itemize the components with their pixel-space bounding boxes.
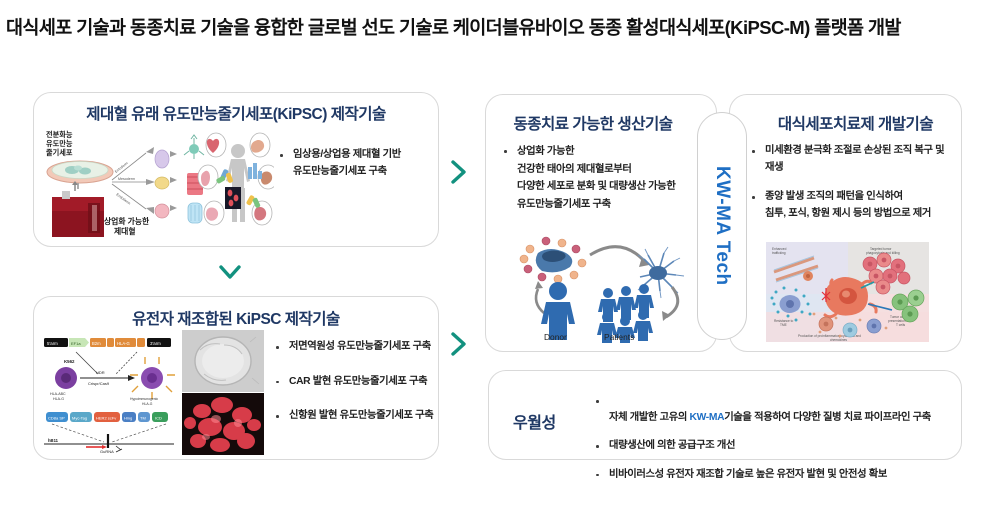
- svg-text:전분화능: 전분화능: [46, 130, 73, 139]
- panel-kipsc-production-bullets: 임상용/상업용 제대혈 기반 유도만능줄기세포 구축: [278, 147, 438, 186]
- chevron-down-icon: [216, 261, 244, 288]
- bullet-item: CAR 발현 유도만능줄기세포 구축: [274, 374, 440, 391]
- svg-text:Donor: Donor: [544, 332, 567, 342]
- panel-macrophage-therapy: 대식세포치료제 개발기술 미세환경 분극화 조절로 손상된 조직 복구 및 재생…: [729, 94, 962, 352]
- svg-text:HER2 scFv: HER2 scFv: [96, 416, 116, 421]
- kwma-highlight: KW-MA: [690, 412, 725, 423]
- svg-text:줄기세포: 줄기세포: [46, 148, 73, 157]
- panel-allogeneic-production: 동종치료 가능한 생산기술 상업화 가능한 건강한 태아의 제대혈로부터 다양한…: [485, 94, 717, 352]
- bullet-item: 대량생산에 의한 공급구조 개선: [594, 438, 974, 455]
- svg-text:GuRNA: GuRNA: [100, 449, 114, 454]
- svg-text:Ectoderm: Ectoderm: [114, 161, 129, 174]
- superiority-bullet-1-post: 기술을 적용하여 다양한 질병 치료 파이프라인 구축: [724, 412, 931, 423]
- panel-kipsc-production: 제대혈 유래 유도만능줄기세포(KiPSC) 제작기술 전분화능 유도만능 줄기…: [33, 92, 439, 247]
- chevron-right-icon-bottom: [448, 330, 470, 363]
- slide-root: 대식세포 기술과 동종치료 기술을 융합한 글로벌 선도 기술로 케이더블유바이…: [0, 0, 987, 517]
- svg-text:Mesoderm: Mesoderm: [118, 177, 135, 181]
- kwma-tech-label: KW-MA Tech: [711, 166, 733, 286]
- svg-text:Patients: Patients: [604, 332, 634, 342]
- page-title: 대식세포 기술과 동종치료 기술을 융합한 글로벌 선도 기술로 케이더블유바이…: [6, 14, 981, 40]
- bullet-item: 미세환경 분극화 조절로 손상된 조직 복구 및 재생: [750, 143, 956, 176]
- svg-text:상업화 가능한: 상업화 가능한: [104, 216, 150, 226]
- svg-text:trafficking: trafficking: [772, 251, 786, 255]
- svg-text:Hypoimmunogenic: Hypoimmunogenic: [130, 397, 158, 401]
- svg-text:hB11: hB11: [48, 438, 59, 443]
- panel-superiority-bullets: 자체 개발한 고유의 KW-MA기술을 적용하여 다양한 질병 치료 파이프라인…: [594, 393, 974, 495]
- gene-editing-schematic-figure: 5'arm EF1a B2m HLA-G 3'arm K562 HLA-ABC …: [42, 330, 177, 454]
- svg-text:CD8a SP: CD8a SP: [48, 416, 65, 421]
- bullet-item: 자체 개발한 고유의 KW-MA기술을 적용하여 다양한 질병 치료 파이프라인…: [594, 393, 974, 426]
- kipsc-differentiation-figure: 전분화능 유도만능 줄기세포 상업화: [42, 125, 274, 241]
- svg-text:유도만능: 유도만능: [46, 139, 73, 148]
- chevron-right-icon-top: [448, 158, 470, 191]
- bullet-item: 비바이러스성 유전자 재조합 기술로 높은 유전자 발현 및 안전성 확보: [594, 467, 974, 484]
- svg-text:3'arm: 3'arm: [150, 341, 161, 346]
- svg-text:K562: K562: [64, 359, 75, 364]
- donor-patients-figure: Donor Patients: [500, 229, 692, 343]
- svg-text:TME: TME: [780, 323, 787, 327]
- panel-macrophage-therapy-bullets: 미세환경 분극화 조절로 손상된 조직 복구 및 재생 종양 발생 조직의 패턴…: [750, 143, 956, 228]
- bullet-item: 종양 발생 조직의 패턴을 인식하여 침투, 포식, 항원 제시 등의 방법으로…: [750, 189, 956, 222]
- svg-text:HLA-ABC: HLA-ABC: [50, 392, 66, 396]
- panel-gene-edited-kipsc-title: 유전자 재조합된 KiPSC 제작기술: [34, 307, 438, 329]
- kwma-tech-badge: KW-MA Tech: [697, 112, 747, 340]
- panel-allogeneic-production-title: 동종치료 가능한 생산기술: [486, 112, 700, 134]
- svg-text:EF1a: EF1a: [71, 341, 81, 346]
- svg-text:5'arm: 5'arm: [47, 341, 58, 346]
- colony-micrograph-image: [182, 330, 264, 392]
- panel-superiority: 우월성 자체 개발한 고유의 KW-MA기술을 적용하여 다양한 질병 치료 파…: [488, 370, 962, 460]
- svg-text:HDR: HDR: [96, 370, 105, 375]
- bullet-item: 임상용/상업용 제대혈 기반 유도만능줄기세포 구축: [278, 147, 438, 180]
- fluorescence-micrograph-image: [182, 393, 264, 455]
- bullet-item: 저면역원성 유도만능줄기세포 구축: [274, 339, 440, 356]
- svg-text:HLA-G: HLA-G: [53, 397, 64, 401]
- svg-text:B2m: B2m: [92, 341, 101, 346]
- svg-text:Myc-Tag: Myc-Tag: [72, 416, 87, 421]
- svg-text:T cells: T cells: [896, 323, 906, 327]
- panel-allogeneic-production-bullets: 상업화 가능한 건강한 태아의 제대혈로부터 다양한 세포로 분화 및 대량생산…: [502, 143, 708, 219]
- panel-macrophage-therapy-title: 대식세포치료제 개발기술: [750, 112, 961, 134]
- panel-gene-edited-kipsc-bullets: 저면역원성 유도만능줄기세포 구축 CAR 발현 유도만능줄기세포 구축 신항원…: [274, 339, 440, 431]
- svg-text:HLA-G: HLA-G: [142, 402, 153, 406]
- svg-text:ICD: ICD: [155, 416, 162, 421]
- macrophage-mechanism-figure: Enhanced trafficking Targeted tumor phag…: [766, 242, 929, 342]
- panel-gene-edited-kipsc: 유전자 재조합된 KiPSC 제작기술 5'arm EF1a B2m HLA-G…: [33, 296, 439, 460]
- svg-text:Endoderm: Endoderm: [115, 193, 131, 206]
- svg-text:제대혈: 제대혈: [114, 226, 136, 236]
- svg-text:HLA-G: HLA-G: [117, 341, 130, 346]
- bullet-item: 상업화 가능한 건강한 태아의 제대혈로부터 다양한 세포로 분화 및 대량생산…: [502, 143, 708, 213]
- panel-kipsc-production-title: 제대혈 유래 유도만능줄기세포(KiPSC) 제작기술: [34, 102, 438, 124]
- svg-text:Hing: Hing: [124, 416, 132, 421]
- svg-text:TM: TM: [140, 416, 146, 421]
- superiority-label: 우월성: [513, 409, 556, 433]
- bullet-item: 신항원 발현 유도만능줄기세포 구축: [274, 408, 440, 425]
- svg-text:Crispr/Cas9: Crispr/Cas9: [88, 381, 110, 386]
- superiority-bullet-1-pre: 자체 개발한 고유의: [609, 412, 690, 423]
- svg-text:chemokines: chemokines: [830, 338, 847, 342]
